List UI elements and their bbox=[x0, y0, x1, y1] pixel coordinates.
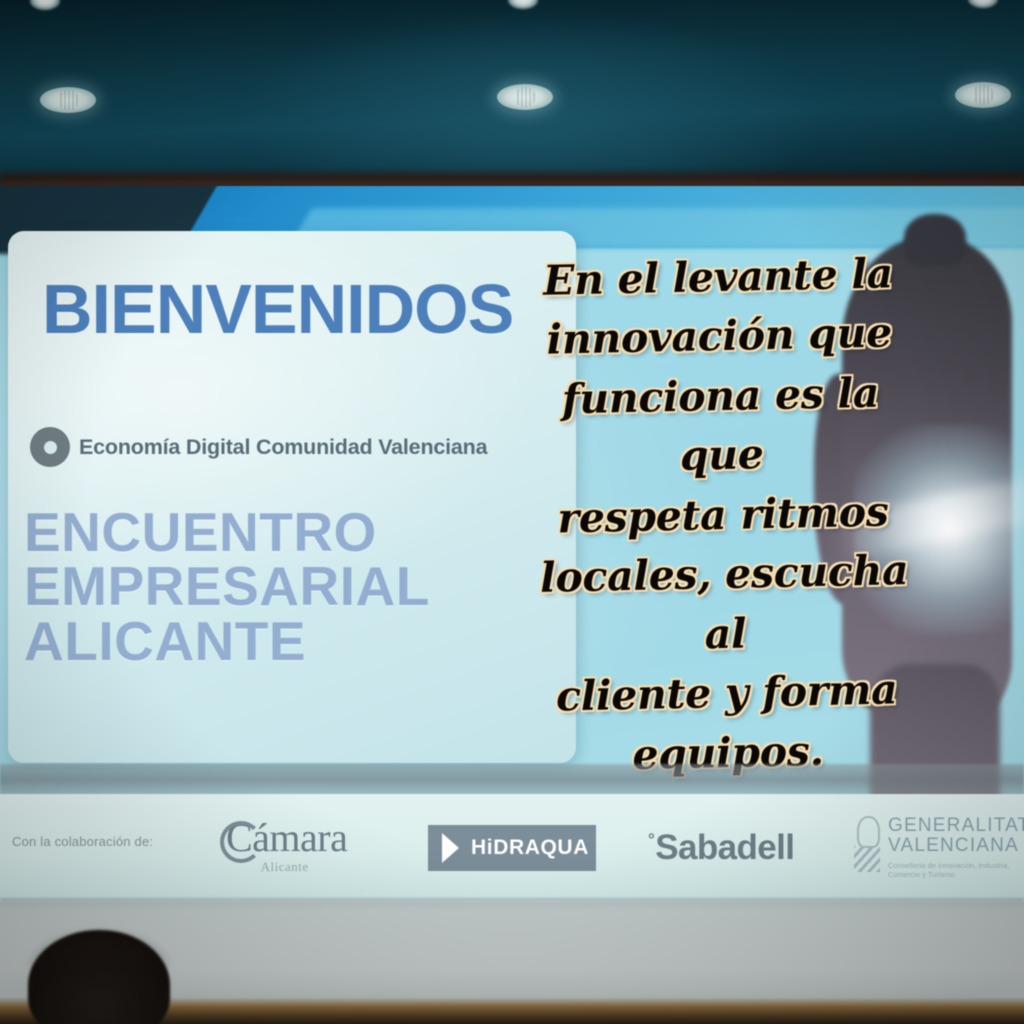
circle-logo-inner bbox=[44, 441, 57, 454]
sponsor-logo-generalitat: GENERALITAT VALENCIANA Conselleria de In… bbox=[854, 816, 1024, 880]
ceiling-light-icon bbox=[40, 87, 96, 113]
caption-line-4: respeta ritmos bbox=[522, 482, 923, 550]
brand-name: Economía Digital Comunidad Valenciana bbox=[79, 435, 487, 460]
caption-line-1: En el levante la bbox=[517, 244, 918, 312]
slide-card: BIENVENIDOS Economía Digital Comunidad V… bbox=[8, 231, 576, 763]
page-title: BIENVENIDOS bbox=[42, 269, 513, 349]
sabadell-degree-icon: ° bbox=[648, 831, 654, 848]
gva-line-1: GENERALITAT bbox=[888, 816, 1024, 836]
sabadell-wordmark: Sabadell bbox=[655, 828, 794, 868]
camara-c-ring-icon bbox=[220, 821, 262, 863]
hidraqua-flag-icon bbox=[442, 833, 459, 863]
ceiling-spot-icon bbox=[508, 0, 538, 9]
event-title: ENCUENTRO EMPRESARIAL ALICANTE bbox=[24, 505, 430, 668]
sponsor-logo-hidraqua: HiDRAQUA bbox=[428, 825, 596, 871]
event-title-line-3: ALICANTE bbox=[24, 614, 430, 668]
ceiling-spot-icon bbox=[968, 0, 998, 8]
gva-text-block: GENERALITAT VALENCIANA Conselleria de In… bbox=[888, 816, 1024, 880]
ceiling-light-icon bbox=[955, 82, 1011, 108]
hidraqua-wordmark: HiDRAQUA bbox=[471, 836, 589, 860]
photo-scene: BIENVENIDOS Economía Digital Comunidad V… bbox=[0, 0, 1024, 1024]
audience-head-hair bbox=[26, 928, 172, 968]
camara-wordmark: Cámara bbox=[222, 818, 347, 858]
handwritten-caption: En el levante la innovación que funciona… bbox=[517, 244, 928, 787]
projection-screen: BIENVENIDOS Economía Digital Comunidad V… bbox=[0, 186, 1024, 902]
caption-line-6: cliente y forma bbox=[526, 660, 927, 728]
gva-line-2: VALENCIANA bbox=[888, 836, 1024, 856]
event-title-line-2: EMPRESARIAL bbox=[24, 559, 430, 613]
caption-line-5: locales, escucha al bbox=[524, 541, 926, 668]
ceiling-light-icon bbox=[497, 84, 553, 110]
sponsor-bar: Con la colaboración de: Cámara Alicante … bbox=[0, 794, 1024, 902]
gva-shield-icon bbox=[854, 816, 880, 874]
ceiling-spot-icon bbox=[30, 0, 60, 10]
caption-line-2: innovación que bbox=[519, 303, 920, 371]
sponsor-logo-sabadell: ° Sabadell bbox=[648, 828, 794, 868]
caption-line-3: funciona es la que bbox=[520, 363, 922, 490]
event-title-line-1: ENCUENTRO bbox=[24, 505, 430, 559]
collaboration-label: Con la colaboración de: bbox=[12, 834, 153, 849]
ceiling bbox=[0, 0, 1024, 186]
circle-logo-icon bbox=[30, 427, 70, 467]
gva-subtitle: Conselleria de Innovación, Industria, Co… bbox=[888, 861, 1024, 881]
brand-lockup: Economía Digital Comunidad Valenciana bbox=[30, 427, 487, 467]
screen-gray-band bbox=[0, 764, 1024, 796]
sponsor-logo-camara: Cámara Alicante bbox=[222, 818, 347, 875]
